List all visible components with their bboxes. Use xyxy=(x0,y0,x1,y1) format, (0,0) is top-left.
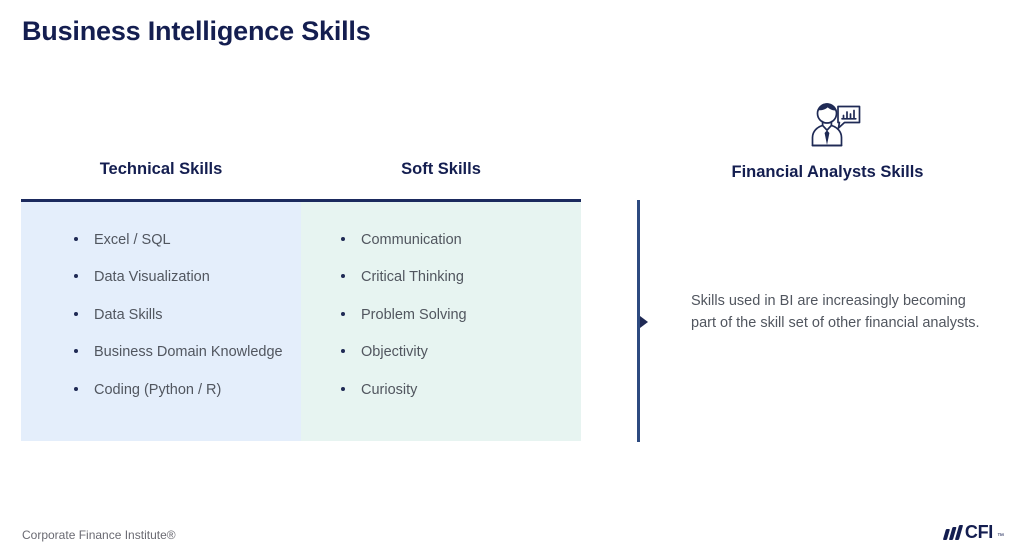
page-title: Business Intelligence Skills xyxy=(22,16,371,47)
list-item: Data Skills xyxy=(31,305,291,326)
bullet-dot-icon xyxy=(74,274,78,278)
list-item: Objectivity xyxy=(311,342,571,363)
list-item: Curiosity xyxy=(311,380,571,401)
financial-analysts-callout: Financial Analysts Skills Skills used in… xyxy=(620,90,1024,460)
column-headers: Technical Skills Soft Skills xyxy=(21,160,581,200)
panel-technical-skills: Excel / SQL Data Visualization Data Skil… xyxy=(21,202,301,441)
bullet-dot-icon xyxy=(341,312,345,316)
soft-skills-list: Communication Critical Thinking Problem … xyxy=(311,230,571,401)
arrow-marker-icon xyxy=(640,316,648,328)
skills-panels: Excel / SQL Data Visualization Data Skil… xyxy=(21,202,581,441)
financial-analyst-icon xyxy=(808,100,862,152)
list-item: Business Domain Knowledge xyxy=(31,342,291,363)
list-item-label: Data Visualization xyxy=(94,269,210,285)
callout-title: Financial Analysts Skills xyxy=(620,163,1024,182)
list-item: Problem Solving xyxy=(311,305,571,326)
bullet-dot-icon xyxy=(74,237,78,241)
list-item-label: Coding (Python / R) xyxy=(94,382,221,398)
slide-canvas: Business Intelligence Skills Technical S… xyxy=(0,0,1024,560)
list-item: Coding (Python / R) xyxy=(31,380,291,401)
bullet-dot-icon xyxy=(74,387,78,391)
bullet-dot-icon xyxy=(341,274,345,278)
cfi-logo-trademark: ™ xyxy=(997,533,1004,543)
footer-attribution: Corporate Finance Institute® xyxy=(22,528,176,542)
list-item-label: Objectivity xyxy=(361,344,428,360)
column-header-technical: Technical Skills xyxy=(21,160,301,179)
list-item-label: Curiosity xyxy=(361,382,417,398)
callout-body-text: Skills used in BI are increasingly becom… xyxy=(691,290,981,335)
list-item-label: Data Skills xyxy=(94,307,163,323)
list-item: Excel / SQL xyxy=(31,230,291,251)
cfi-logo-bars-icon xyxy=(943,525,963,540)
list-item: Data Visualization xyxy=(31,267,291,288)
bullet-dot-icon xyxy=(341,349,345,353)
skills-comparison-block: Technical Skills Soft Skills xyxy=(21,160,581,200)
bullet-dot-icon xyxy=(341,237,345,241)
list-item-label: Problem Solving xyxy=(361,307,467,323)
technical-skills-list: Excel / SQL Data Visualization Data Skil… xyxy=(31,230,291,401)
bullet-dot-icon xyxy=(341,387,345,391)
list-item-label: Business Domain Knowledge xyxy=(94,344,283,360)
panel-soft-skills: Communication Critical Thinking Problem … xyxy=(301,202,581,441)
cfi-logo: CFI ™ xyxy=(945,521,1004,543)
list-item-label: Communication xyxy=(361,232,462,248)
bullet-dot-icon xyxy=(74,349,78,353)
list-item-label: Critical Thinking xyxy=(361,269,464,285)
bullet-dot-icon xyxy=(74,312,78,316)
column-header-soft: Soft Skills xyxy=(301,160,581,179)
list-item: Critical Thinking xyxy=(311,267,571,288)
cfi-logo-wordmark: CFI xyxy=(965,522,993,543)
list-item: Communication xyxy=(311,230,571,251)
list-item-label: Excel / SQL xyxy=(94,232,171,248)
